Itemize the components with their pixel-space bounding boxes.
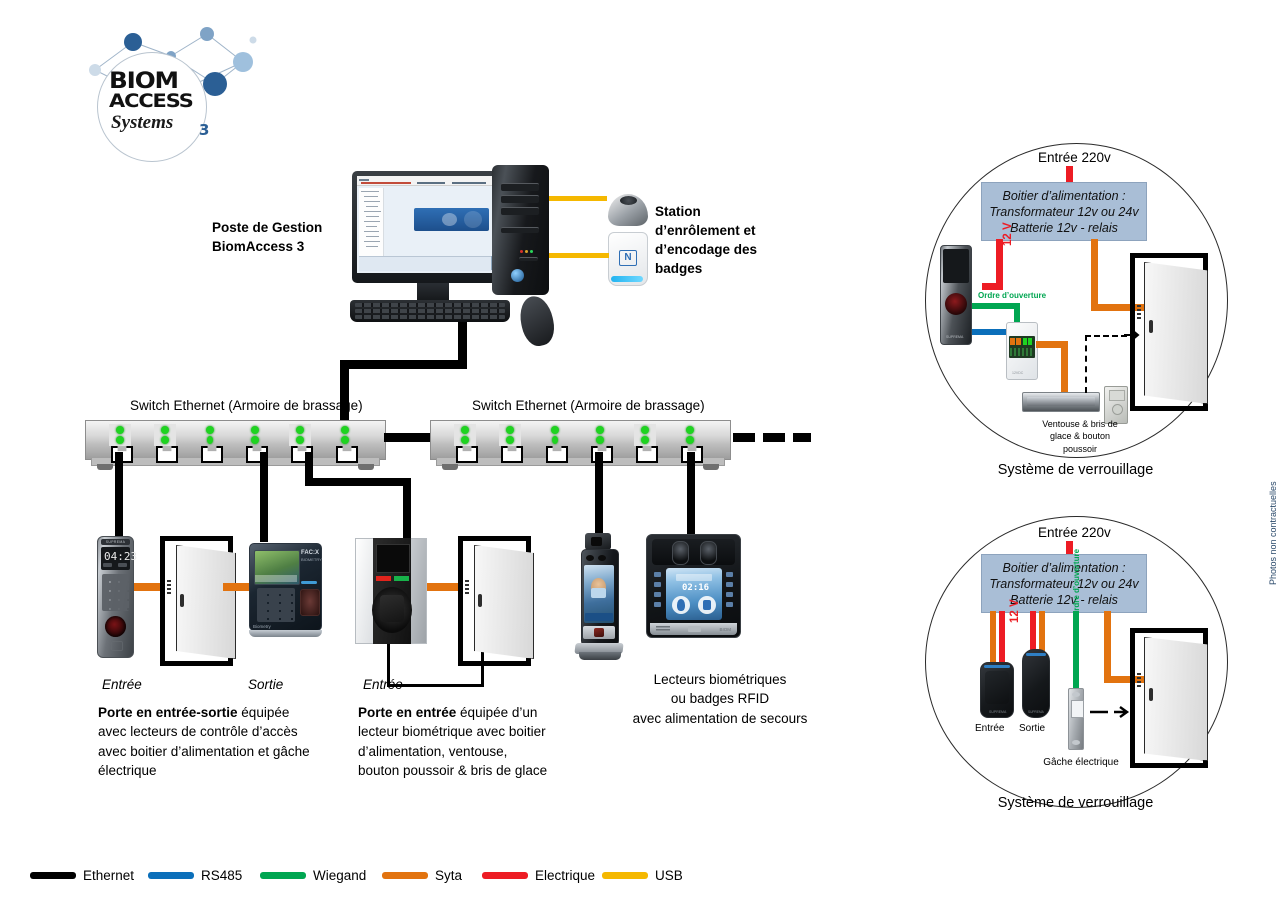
legend-swatch-syta: [382, 872, 428, 879]
lock-top-door-handle: [1149, 320, 1153, 333]
legend-label-syta: Syta: [435, 868, 462, 883]
switch-2-port-1[interactable]: [454, 424, 476, 460]
lock-bottom-reader-entry-label: Entrée: [975, 723, 1004, 734]
enrollment-label-line3: d’encodage des: [655, 240, 785, 259]
app-banner: [414, 208, 489, 231]
lock-bottom-door-hinge: [1137, 673, 1141, 687]
lock-bottom-voltage-label: 12 V: [1009, 599, 1021, 623]
door-1-exit-label: Sortie: [248, 676, 283, 694]
lock-bottom-syta-r1: [990, 611, 996, 664]
logo-text-access: ACCESS: [109, 90, 193, 112]
lock-bottom-reader-exit: SUPREMA: [1022, 649, 1050, 718]
lock-bottom-syta-door-v: [1104, 611, 1111, 683]
legend-item-rs485: RS485: [148, 868, 242, 883]
enrollment-label-line4: badges: [655, 259, 785, 278]
legend-label-ethernet: Ethernet: [83, 868, 134, 883]
switch-1-label: Switch Ethernet (Armoire de brassage): [130, 397, 363, 415]
switch-2-port-2[interactable]: [499, 424, 521, 460]
badge-encoder: N: [608, 232, 646, 284]
lock-bottom-reader-exit-label: Sortie: [1019, 723, 1045, 734]
lock-top-caption: Système de verrouillage: [925, 461, 1226, 480]
enrollment-label: Station d’enrôlement et d’encodage des b…: [655, 202, 785, 279]
door-2-caption: Porte en entrée équipée d’un lecteur bio…: [358, 703, 588, 781]
lock-bottom-psu-line3: Batterie 12v - relais: [1010, 592, 1118, 608]
door-2-caption-line3: d’alimentation, ventouse,: [358, 742, 588, 761]
biometric-readers-caption: Lecteurs biométriques ou badges RFID ave…: [620, 670, 820, 728]
legend-item-syta: Syta: [382, 868, 462, 883]
lock-top-voltage-label: 12 V: [1002, 222, 1014, 246]
door-1-caption-line3: avec boitier d’alimentation et gâche: [98, 742, 343, 761]
lock-top-maglock-line1: Ventouse & bris de: [1020, 418, 1140, 430]
lock-top-controller: 12VDC: [1006, 322, 1038, 380]
lock-bottom-swing-arrow-icon: [1090, 703, 1132, 721]
door-1-caption-line2: avec lecteurs de contrôle d’accès: [98, 722, 343, 741]
switch-1-port-2[interactable]: [154, 424, 176, 460]
electric-strike-label: Gâche électrique: [1026, 757, 1136, 768]
door-2-handle: [478, 594, 482, 607]
lock-top-wiegand-h: [972, 303, 1020, 309]
enrollment-scanner: [606, 190, 650, 228]
legend-label-usb: USB: [655, 868, 683, 883]
lock-top-swing-dash-v: [1085, 335, 1087, 393]
lock-bottom-psu-line1: Boitier d’alimentation :: [1003, 560, 1126, 576]
lock-bottom-reader-entry: SUPREMA: [980, 662, 1014, 718]
app-tree-panel: [359, 188, 384, 257]
lock-bottom-input-label: Entrée 220v: [1038, 524, 1111, 542]
lock-bottom-caption: Système de verrouillage: [925, 794, 1226, 813]
lock-top-reader: SUPREMA: [940, 245, 972, 345]
access-reader-exit: FAC:X BIOMETRY Biometry: [249, 543, 322, 631]
eth-drop-reader-entry: [115, 452, 123, 542]
switch-2-port-3[interactable]: [544, 424, 566, 460]
eth-drop-dual-reader: [687, 452, 695, 534]
legend-item-wiegand: Wiegand: [260, 868, 366, 883]
app-statusbar: [359, 256, 507, 271]
usb-cable-scanner: [549, 196, 607, 201]
keyboard: [350, 300, 510, 322]
lock-top-rs485: [972, 329, 1010, 335]
lock-bottom-syta-r2: [1039, 611, 1045, 651]
legend-swatch-rs485: [148, 872, 194, 879]
eth-pc-horizontal: [340, 360, 467, 369]
logo-text-three: 3: [199, 121, 209, 139]
legend-item-usb: USB: [602, 868, 683, 883]
nfc-icon: N: [619, 250, 637, 266]
lock-top-psu-line3: Batterie 12v - relais: [1010, 220, 1118, 236]
lock-bottom-psu-line2: Transformateur 12v ou 24v: [989, 576, 1138, 592]
pc-tower: [492, 165, 549, 295]
legend-label-rs485: RS485: [201, 868, 242, 883]
syta-cable-door2: [427, 583, 461, 591]
legend-swatch-usb: [602, 872, 648, 879]
app-toolbar: [357, 176, 509, 186]
biometric-readers-line2: ou badges RFID: [620, 689, 820, 708]
eth-trailing-dash-3: [793, 433, 811, 442]
door-2-caption-bold: Porte en entrée: [358, 705, 456, 720]
eth-drop-reader-exit: [260, 452, 268, 542]
lock-top-psu-line2: Transformateur 12v ou 24v: [989, 204, 1138, 220]
dual-camera-biometric-terminal: 02:16 BIOM: [646, 534, 741, 638]
switch-1-port-3[interactable]: [199, 424, 221, 460]
lock-top-maglock-line2: glace & bouton: [1020, 430, 1140, 442]
door-1-hinge: [167, 580, 171, 594]
door-1-caption-rest: équipée: [238, 705, 290, 720]
door-2-entry-label: Entrée: [363, 676, 403, 694]
switch-2-port-5[interactable]: [634, 424, 656, 460]
syta-cable-door1-left: [134, 583, 163, 591]
lock-bottom-psu-box: Boitier d’alimentation : Transformateur …: [981, 554, 1147, 613]
enrollment-label-line1: Station: [655, 202, 785, 221]
lock-bottom-door-leaf: [1144, 637, 1208, 761]
face-recognition-terminal: [571, 533, 623, 663]
logo-text-systems: Systems: [111, 112, 173, 134]
door-2-leaf: [474, 545, 534, 659]
lock-top-12v-vertical: [996, 239, 1003, 289]
eth-drop-face-reader: [595, 452, 603, 537]
mouse: [516, 293, 558, 349]
door-1-caption: Porte en entrée-sortie équipée avec lect…: [98, 703, 343, 781]
lock-top-swing-dash-h: [1085, 335, 1127, 337]
lock-top-maglock-syta-v: [1061, 341, 1068, 393]
legend-item-electrique: Electrique: [482, 868, 595, 883]
door-2-caption-line2: lecteur biométrique avec boitier: [358, 722, 588, 741]
lock-top-open-order-label: Ordre d’ouverture: [978, 291, 1046, 300]
company-logo: BIOM ACCESS Systems 3: [75, 22, 275, 147]
eth-trailing-dash-1: [733, 433, 755, 442]
biometric-readers-line3: avec alimentation de secours: [620, 709, 820, 728]
eth-pc-vertical: [458, 322, 467, 364]
lock-bottom-wiegand: [1073, 611, 1079, 693]
door-1-caption-bold: Porte en entrée-sortie: [98, 705, 238, 720]
access-reader-entry: SUPREMA 04:23: [97, 536, 134, 658]
legend-label-wiegand: Wiegand: [313, 868, 366, 883]
lock-top-door-hinge: [1137, 305, 1141, 319]
legend-swatch-electrique: [482, 872, 528, 879]
lock-bottom-elec-r1: [999, 611, 1005, 664]
lock-bottom-open-order-label: Ordre d’ouverture: [1072, 549, 1081, 617]
lock-top-maglock-line3: poussoir: [1020, 443, 1140, 455]
door-1-leaf: [176, 545, 236, 659]
door-2-hinge: [465, 580, 469, 594]
lock-top-input-label: Entrée 220v: [1038, 149, 1111, 167]
biometric-reader-entry: [355, 538, 427, 644]
lock-top-psu-line1: Boitier d’alimentation :: [1003, 188, 1126, 204]
lock-top-maglock: [1022, 392, 1100, 412]
eth-drop-biometric-h: [305, 478, 411, 486]
electric-strike: [1068, 688, 1084, 750]
door-1-entry-label: Entrée: [102, 676, 142, 694]
legend-swatch-wiegand: [260, 872, 306, 879]
legend-item-ethernet: Ethernet: [30, 868, 134, 883]
switch-1-port-6[interactable]: [334, 424, 356, 460]
switch-2-label: Switch Ethernet (Armoire de brassage): [472, 397, 705, 415]
eth-trailing-dash-2: [763, 433, 785, 442]
door-1-handle: [180, 594, 184, 607]
door-1-caption-line4: électrique: [98, 761, 343, 780]
disclaimer-note: Photos non contractuelles: [1268, 481, 1278, 585]
enrollment-label-line2: d’enrôlement et: [655, 221, 785, 240]
legend-label-electrique: Electrique: [535, 868, 595, 883]
door-2-caption-rest: équipée d’un: [456, 705, 537, 720]
monitor-screen: [357, 176, 509, 273]
biometric-readers-line1: Lecteurs biométriques: [620, 670, 820, 689]
lock-bottom-elec-r2: [1030, 611, 1036, 651]
lock-bottom-door-handle: [1149, 688, 1153, 701]
lock-top-maglock-caption: Ventouse & bris de glace & bouton pousso…: [1020, 418, 1140, 455]
door-2-caption-line4: bouton poussoir & bris de glace: [358, 761, 588, 780]
legend-swatch-ethernet: [30, 872, 76, 879]
lock-top-12v-horizontal: [982, 283, 1003, 290]
usb-cable-encoder: [549, 253, 609, 258]
eth-drop-biometric-b: [403, 478, 411, 542]
lock-top-door-leaf: [1144, 262, 1208, 404]
lock-top-syta-vertical: [1091, 239, 1098, 311]
